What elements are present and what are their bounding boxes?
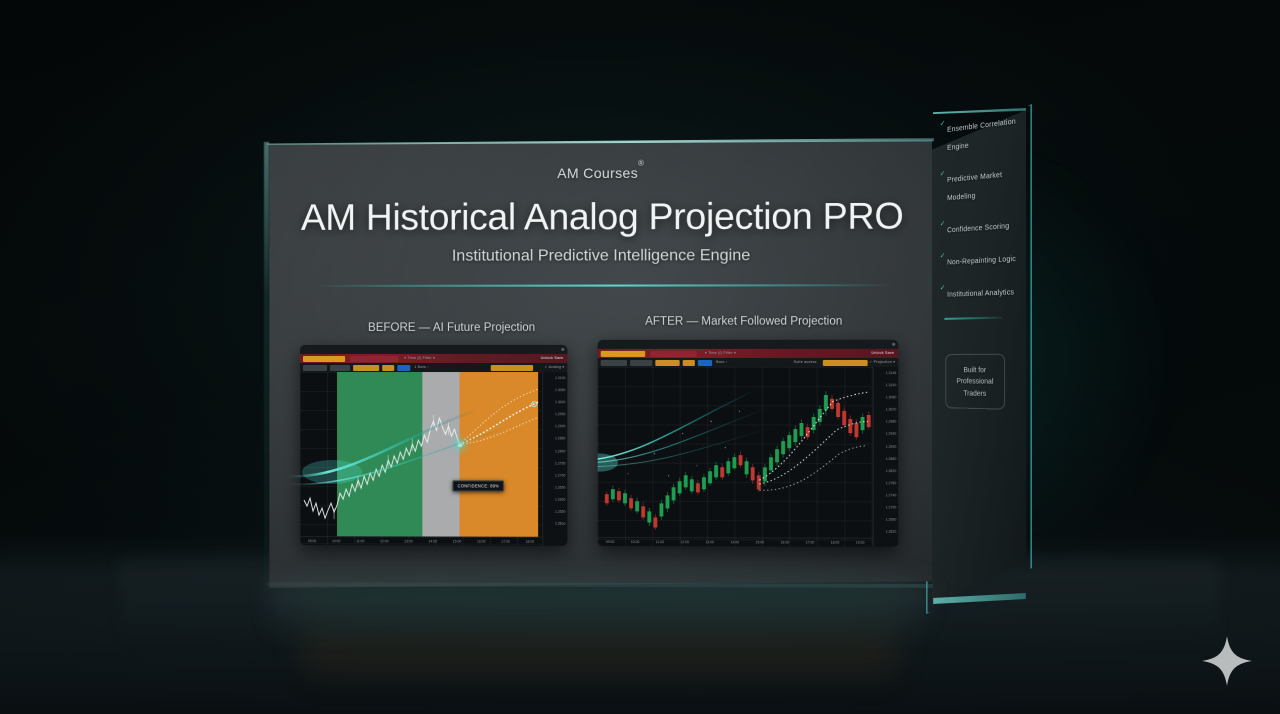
page-subtitle: Institutional Predictive Intelligence En…	[266, 247, 939, 266]
y-tick: 1.2980	[874, 420, 898, 432]
feature-label: Ensemble Correlation Engine	[947, 116, 1016, 152]
indicator-label: ✓ Projection ▾	[869, 360, 895, 364]
tf-chip-4[interactable]	[683, 359, 695, 365]
ai-sparkle-icon	[1200, 634, 1254, 688]
projection-upper-right	[760, 392, 868, 480]
caption-before: BEFORE — AI Future Projection	[318, 322, 586, 334]
y-tick: 1.2550	[543, 510, 567, 522]
x-tick: 14:00	[730, 540, 739, 544]
chart-toolbar-secondary-right: Bars ↑ Suite access ✓ Projection ▾	[598, 358, 899, 367]
y-tick: 1.2620	[874, 530, 898, 542]
feature-item-non-repainting-logic: ✓ Non-Repainting Logic	[947, 247, 1019, 269]
chart-toolbar-primary-right: ▾ Time (f) Filter ▾ Unlock Save	[598, 349, 899, 358]
y-axis-left: 1.3100 1.3050 1.3000 1.2950 1.2900 1.285…	[542, 372, 567, 546]
page-title: AM Historical Analog Projection PRO	[266, 195, 939, 239]
y-tick: 1.3000	[543, 400, 567, 412]
feature-item-predictive-market-modeling: ✓ Predictive Market Modeling	[947, 162, 1019, 206]
y-tick: 1.2700	[543, 473, 567, 485]
y-tick: 1.2900	[543, 425, 567, 437]
wave-particles	[628, 411, 741, 477]
projection-anchor-point	[458, 442, 463, 447]
x-tick: 15:00	[755, 540, 764, 544]
chart-titlebar-left	[300, 345, 567, 354]
brand-name: AM Courses®	[266, 164, 939, 182]
toolbar-right-left[interactable]: Unlock Save	[541, 356, 564, 360]
chart-plot-area-right[interactable]: 1.3022 1.3145 1.3100 1.3060 1.3020 1.298…	[598, 367, 899, 547]
y-tick: 1.3100	[874, 383, 898, 395]
x-tick: 12:00	[680, 540, 689, 544]
y-tick: 1.3145	[874, 371, 898, 383]
tf-chip-active[interactable]	[698, 359, 712, 365]
chart-plot-area-left[interactable]: CONFIDENCE: 89% 1.2974 1.3100 1.3050 1.3…	[300, 372, 567, 546]
x-tick: 13:00	[404, 539, 413, 543]
tf-chip-4[interactable]	[382, 365, 394, 371]
y-tick: 1.2800	[543, 449, 567, 461]
price-chip	[350, 355, 398, 361]
tf-chip-3[interactable]	[655, 359, 679, 365]
feature-label: Non-Repainting Logic	[947, 254, 1016, 267]
x-tick: 13:00	[705, 540, 714, 544]
toolbar-menu-right[interactable]: ▾ Time (f) Filter ▾	[705, 351, 736, 355]
y-tick: 1.3100	[543, 376, 567, 388]
x-tick: 14:00	[429, 539, 438, 543]
box-front-content: AM Courses® AM Historical Analog Project…	[266, 138, 939, 591]
tf-chip-2[interactable]	[630, 359, 652, 365]
check-icon: ✓	[940, 284, 945, 294]
side-accent-divider	[944, 317, 1002, 320]
x-tick: 18:00	[526, 540, 535, 544]
tf-chip-1[interactable]	[601, 359, 627, 365]
x-axis-right: 09:00 10:00 11:00 12:00 13:00 14:00 15:0…	[598, 537, 873, 547]
projection-lower	[460, 417, 539, 444]
tf-chip-1[interactable]	[303, 365, 327, 371]
y-tick: 1.3020	[874, 408, 898, 420]
feature-label: Confidence Scoring	[947, 221, 1009, 235]
chart-panel-before[interactable]: ▾ Time (f) Filter ▾ Unlock Save 1 Bars ↑…	[300, 345, 567, 546]
y-tick: 1.2940	[874, 432, 898, 444]
x-tick: 18:00	[831, 541, 840, 545]
x-tick: 09:00	[308, 539, 317, 543]
tf-chip-active[interactable]	[397, 365, 410, 371]
y-tick: 1.2900	[874, 444, 898, 456]
brand-label: AM Courses	[557, 165, 638, 181]
y-tick: 1.3050	[543, 388, 567, 400]
chart-series-right	[598, 367, 899, 547]
x-tick: 19:00	[856, 541, 865, 545]
check-icon: ✓	[940, 169, 945, 180]
projection-mid	[460, 402, 539, 444]
check-icon: ✓	[940, 220, 945, 230]
tf-chip-3[interactable]	[353, 365, 379, 371]
window-dot-icon	[892, 343, 895, 346]
x-axis-left: 09:00 10:00 11:00 12:00 13:00 14:00 15:0…	[300, 536, 542, 546]
confidence-badge: CONFIDENCE: 89%	[453, 480, 505, 491]
caption-after: AFTER — Market Followed Projection	[594, 316, 895, 328]
y-tick: 1.2740	[874, 493, 898, 505]
status-badge: Built for Professional Traders	[945, 353, 1005, 409]
chart-panel-after[interactable]: ▾ Time (f) Filter ▾ Unlock Save Bars ↑ S…	[598, 340, 899, 547]
y-tick: 1.2660	[874, 518, 898, 530]
y-tick: 1.2750	[543, 461, 567, 473]
x-tick: 12:00	[380, 539, 389, 543]
candlesticks-right	[605, 391, 870, 530]
x-tick: 16:00	[477, 540, 486, 544]
x-tick: 10:00	[332, 539, 341, 543]
toolbar-menu-left[interactable]: ▾ Time (f) Filter ▾	[404, 356, 435, 360]
check-icon: ✓	[940, 119, 945, 130]
y-tick: 1.2700	[874, 505, 898, 517]
registered-mark: ®	[638, 159, 644, 168]
box-floor-reflection-color	[300, 586, 900, 691]
price-chip	[650, 350, 697, 356]
y-tick: 1.2500	[543, 522, 567, 534]
x-tick: 10:00	[631, 540, 640, 544]
y-tick: 1.2600	[543, 498, 567, 510]
x-tick: 15:00	[453, 540, 462, 544]
y-axis-right: 1.3145 1.3100 1.3060 1.3020 1.2980 1.294…	[873, 367, 898, 547]
chart-titlebar-right	[598, 340, 899, 349]
x-tick: 09:00	[606, 540, 615, 544]
suite-label: Suite access	[794, 360, 817, 364]
check-icon: ✓	[940, 252, 945, 262]
symbol-chip[interactable]	[303, 355, 345, 361]
y-tick: 1.2950	[543, 412, 567, 424]
tf-label: 1 Bars ↑	[414, 365, 429, 369]
x-tick: 17:00	[501, 540, 510, 544]
toolbar-right-right[interactable]: Unlock Save	[871, 351, 894, 355]
feature-item-confidence-scoring: ✓ Confidence Scoring	[947, 214, 1019, 238]
tf-chip-2[interactable]	[330, 365, 350, 371]
y-tick: 1.2650	[543, 485, 567, 497]
accent-divider	[314, 284, 892, 287]
y-tick: 1.2850	[543, 437, 567, 449]
x-tick: 11:00	[356, 539, 364, 543]
feature-item-institutional-analytics: ✓ Institutional Analytics	[947, 281, 1019, 302]
feature-item-ensemble-correlation-engine: ✓ Ensemble Correlation Engine	[947, 110, 1019, 155]
tf-label: Bars ↑	[716, 360, 728, 364]
y-tick: 1.3060	[874, 395, 898, 407]
x-tick: 16:00	[781, 540, 790, 544]
ai-energy-wave	[598, 389, 778, 472]
x-tick: 17:00	[806, 541, 815, 545]
window-dot-icon	[561, 348, 564, 351]
feature-label: Institutional Analytics	[947, 287, 1014, 299]
indicator-chip[interactable]	[491, 365, 533, 371]
chart-toolbar-secondary-left: 1 Bars ↑ ✓ Analog ▾	[300, 363, 567, 372]
projection-upper	[460, 389, 539, 444]
price-line-left	[304, 418, 460, 518]
feature-label: Predictive Market Modeling	[947, 170, 1002, 203]
indicator-chip[interactable]	[823, 359, 868, 365]
box-side-content: ✓ Ensemble Correlation Engine ✓ Predicti…	[939, 110, 1018, 610]
x-tick: 11:00	[656, 540, 664, 544]
symbol-chip[interactable]	[601, 350, 645, 356]
chart-series-left	[300, 372, 567, 546]
y-tick: 1.2860	[874, 457, 898, 469]
y-tick: 1.2780	[874, 481, 898, 493]
y-tick: 1.2820	[874, 469, 898, 481]
indicator-label: ✓ Analog ▾	[544, 365, 564, 369]
chart-toolbar-primary-left: ▾ Time (f) Filter ▾ Unlock Save	[300, 354, 567, 363]
